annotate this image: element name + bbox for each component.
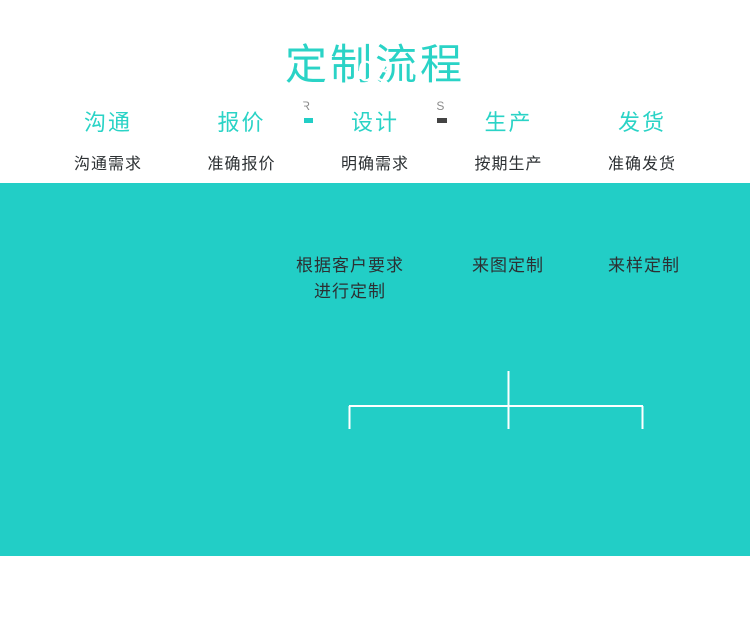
step-box[interactable]: 发货 [580, 99, 704, 146]
step-box[interactable]: 设计 [313, 99, 437, 146]
step-description: 准确发货 [580, 155, 704, 175]
note-item: 根据客户要求 进行定制 [264, 253, 436, 305]
process-step-03[interactable]: 03 设计 明确需求 [313, 55, 437, 175]
step-description: 沟通需求 [46, 155, 170, 175]
note-line-1: 来图定制 [437, 253, 579, 279]
process-step-04[interactable]: 04 生产 按期生产 [447, 55, 571, 175]
step-number: 01 [46, 55, 170, 89]
step-description: 明确需求 [313, 155, 437, 175]
process-steps-row: 01 沟通 沟通需求 02 报价 准确报价 03 设计 明确需求 04 生产 按… [46, 55, 704, 175]
step-box[interactable]: 沟通 [46, 99, 170, 146]
process-step-05[interactable]: 05 发货 准确发货 [580, 55, 704, 175]
customization-notes: 根据客户要求 进行定制 来图定制 来样定制 [0, 253, 750, 333]
note-line-1: 根据客户要求 [264, 253, 436, 279]
step-box-label: 设计 [351, 111, 399, 135]
note-item: 来图定制 [437, 253, 579, 279]
step-box[interactable]: 报价 [180, 99, 304, 146]
step-number: 03 [313, 55, 437, 89]
step-box-label: 生产 [484, 111, 532, 135]
step-number: 02 [180, 55, 304, 89]
process-band [0, 183, 750, 556]
step-description: 按期生产 [447, 155, 571, 175]
step-number: 04 [447, 55, 571, 89]
note-line-1: 来样定制 [573, 253, 715, 279]
process-step-01[interactable]: 01 沟通 沟通需求 [46, 55, 170, 175]
note-item: 来样定制 [573, 253, 715, 279]
process-step-02[interactable]: 02 报价 准确报价 [180, 55, 304, 175]
note-line-2: 进行定制 [264, 279, 436, 305]
step-number: 05 [580, 55, 704, 89]
step-box-label: 发货 [618, 111, 666, 135]
step-box-label: 报价 [217, 111, 265, 135]
step-description: 准确报价 [180, 155, 304, 175]
step-box-label: 沟通 [84, 111, 132, 135]
step-box[interactable]: 生产 [447, 99, 571, 146]
